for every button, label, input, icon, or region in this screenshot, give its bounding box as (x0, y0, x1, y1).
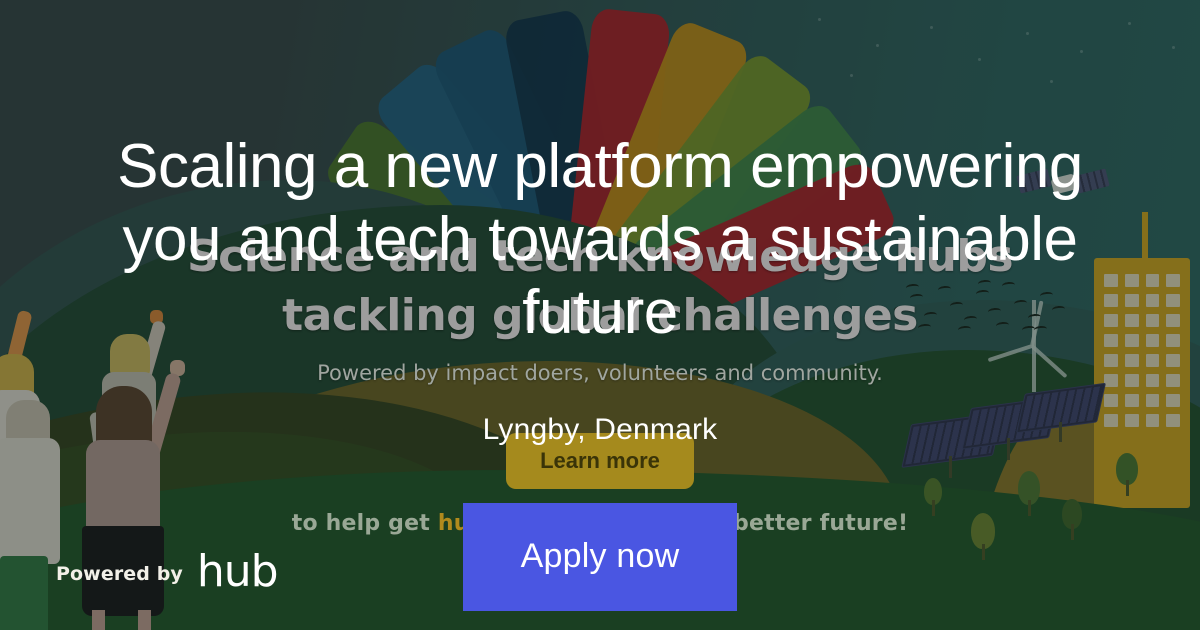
page-title: Scaling a new platform empowering you an… (70, 130, 1130, 349)
powered-by-badge: Powered by hub (56, 552, 278, 596)
event-location: Lyngby, Denmark (483, 413, 718, 447)
powered-by-label: Powered by (56, 563, 183, 585)
hub-logo: hub (197, 550, 278, 594)
share-overlay-content: Scaling a new platform empowering you an… (0, 0, 1200, 630)
share-card: Science and tech knowledge hubs tackling… (0, 0, 1200, 630)
apply-now-button[interactable]: Apply now (463, 503, 737, 611)
